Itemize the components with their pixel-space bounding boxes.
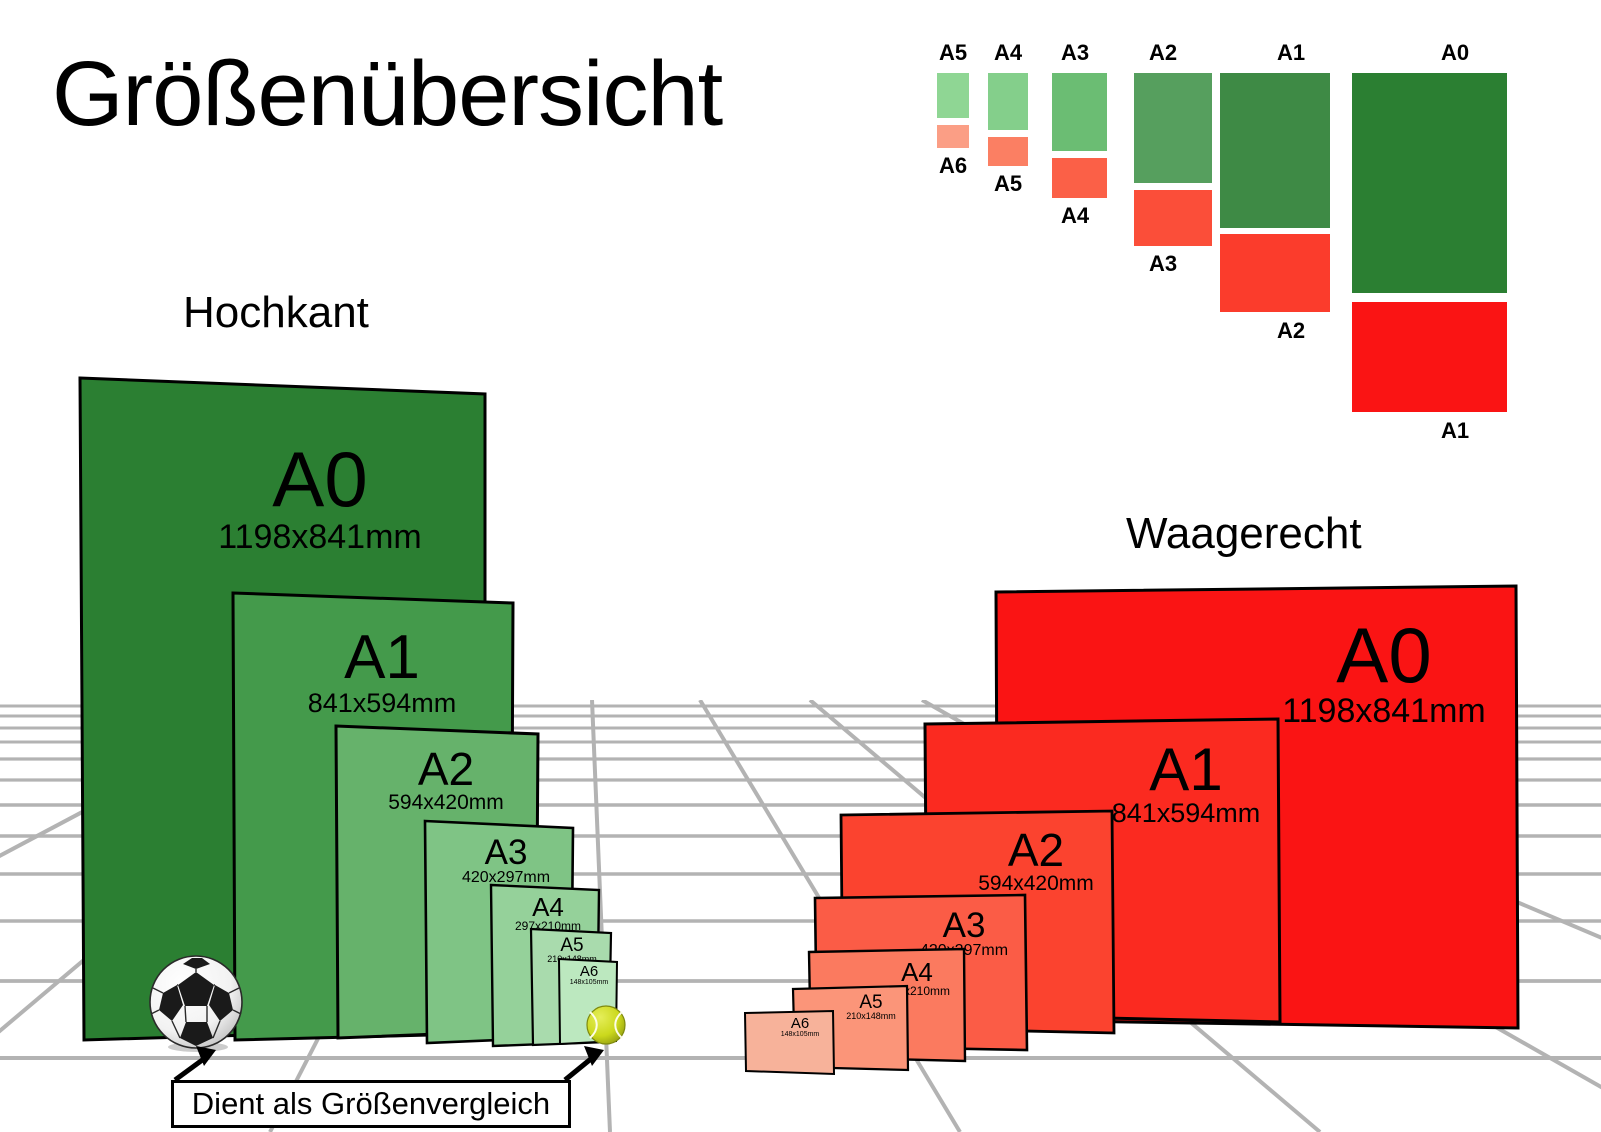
chart-red-a2 <box>1220 234 1330 312</box>
chart-green-a5 <box>937 73 969 118</box>
chart-green-a0 <box>1352 73 1507 293</box>
chart-green-a2 <box>1134 73 1212 183</box>
size-comparison-chart: A5 A6 A4 A5 A3 A4 A2 A3 A1 A2 A0 A1 <box>920 40 1580 480</box>
callout-box: Dient als Größenvergleich <box>171 1080 571 1128</box>
section-caption-portrait: Hochkant <box>183 288 369 338</box>
chart-top-label-a0: A0 <box>1410 40 1500 66</box>
section-caption-landscape: Waagerecht <box>1126 509 1362 559</box>
chart-green-a3 <box>1052 73 1107 151</box>
chart-bottom-label-a2: A2 <box>1250 318 1332 344</box>
chart-green-a1 <box>1220 73 1330 228</box>
callout-label: Dient als Größenvergleich <box>192 1086 550 1122</box>
chart-bottom-label-a1: A1 <box>1410 418 1500 444</box>
chart-bottom-label-a5: A5 <box>982 171 1034 197</box>
chart-green-a4 <box>988 73 1028 130</box>
infographic-canvas: Größenübersicht Hochkant Waagerecht A0 1… <box>0 0 1601 1132</box>
chart-top-label-a2: A2 <box>1128 40 1198 66</box>
sheet-landscape-a6[interactable]: A6 148x105mm <box>742 1008 838 1078</box>
chart-bottom-label-a6: A6 <box>930 153 976 179</box>
chart-top-label-a4: A4 <box>982 40 1034 66</box>
page-title: Größenübersicht <box>52 48 722 140</box>
chart-red-a4 <box>1052 158 1107 198</box>
chart-top-label-a3: A3 <box>1046 40 1104 66</box>
chart-red-a5 <box>988 137 1028 166</box>
chart-bottom-label-a3: A3 <box>1128 251 1198 277</box>
chart-top-label-a5: A5 <box>930 40 976 66</box>
chart-top-label-a1: A1 <box>1250 40 1332 66</box>
chart-red-a1 <box>1352 302 1507 412</box>
chart-bottom-label-a4: A4 <box>1046 203 1104 229</box>
chart-red-a3 <box>1134 190 1212 246</box>
chart-red-a6 <box>937 125 969 148</box>
